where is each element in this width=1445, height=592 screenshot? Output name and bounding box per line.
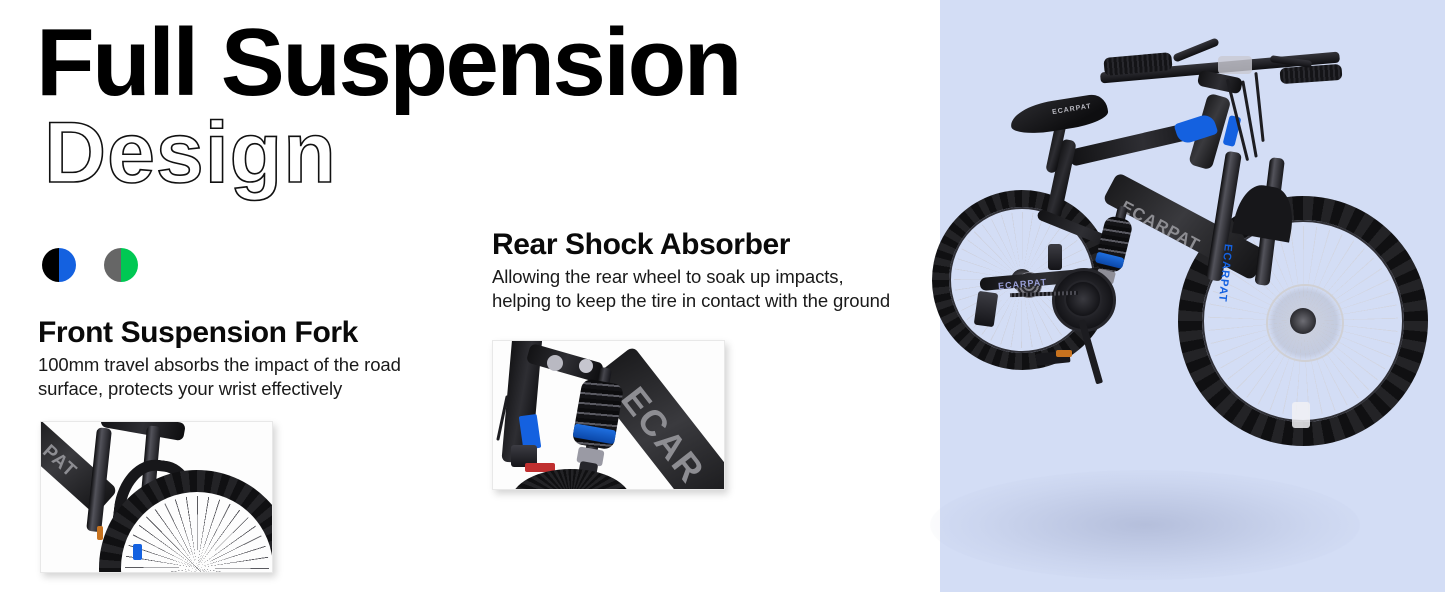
feature-body: Allowing the rear wheel to soak up impac…	[492, 265, 904, 314]
hero-image-panel: ECARPAT ECARPAT ECARPAT	[940, 0, 1445, 592]
shifter-cable	[1254, 72, 1264, 142]
rear-shock-photo-inner: ECAR	[493, 341, 724, 489]
bell-or-clamp	[1218, 56, 1252, 74]
page-subtitle-outline: Design	[36, 110, 936, 196]
product-feature-banner: ECARPAT ECARPAT ECARPAT	[0, 0, 1445, 592]
page-title: Full Suspension	[36, 16, 936, 110]
rear-shock-photo: ECAR	[492, 340, 725, 490]
swatch-half-green	[121, 248, 138, 282]
swatch-half-blue	[59, 248, 76, 282]
feature-body: 100mm travel absorbs the impact of the r…	[38, 353, 458, 402]
color-swatch-black-blue[interactable]	[42, 248, 76, 282]
front-fork-photo: PAT	[40, 421, 273, 573]
feature-title: Rear Shock Absorber	[492, 228, 904, 262]
swatch-half-black	[42, 248, 59, 282]
brake-lever-left	[1172, 37, 1220, 62]
swatch-half-gray	[104, 248, 121, 282]
front-derailleur	[1048, 244, 1062, 270]
color-swatch-gray-green[interactable]	[104, 248, 138, 282]
handlebar-grip-right	[1280, 64, 1343, 84]
front-fork-photo-inner: PAT	[41, 422, 272, 572]
headline-block: Full Suspension Design	[36, 16, 936, 196]
crank-arm	[1064, 280, 1102, 318]
front-fender	[1232, 181, 1298, 242]
color-swatch-row	[42, 248, 138, 282]
feature-front-suspension-fork: Front Suspension Fork 100mm travel absor…	[38, 316, 458, 402]
pedal-reflector	[1056, 350, 1072, 357]
feature-title: Front Suspension Fork	[38, 316, 458, 350]
hero-bike-illustration: ECARPAT ECARPAT ECARPAT	[940, 0, 1445, 592]
rear-shock-coil	[563, 364, 628, 486]
feature-rear-shock-absorber: Rear Shock Absorber Allowing the rear wh…	[492, 228, 904, 314]
